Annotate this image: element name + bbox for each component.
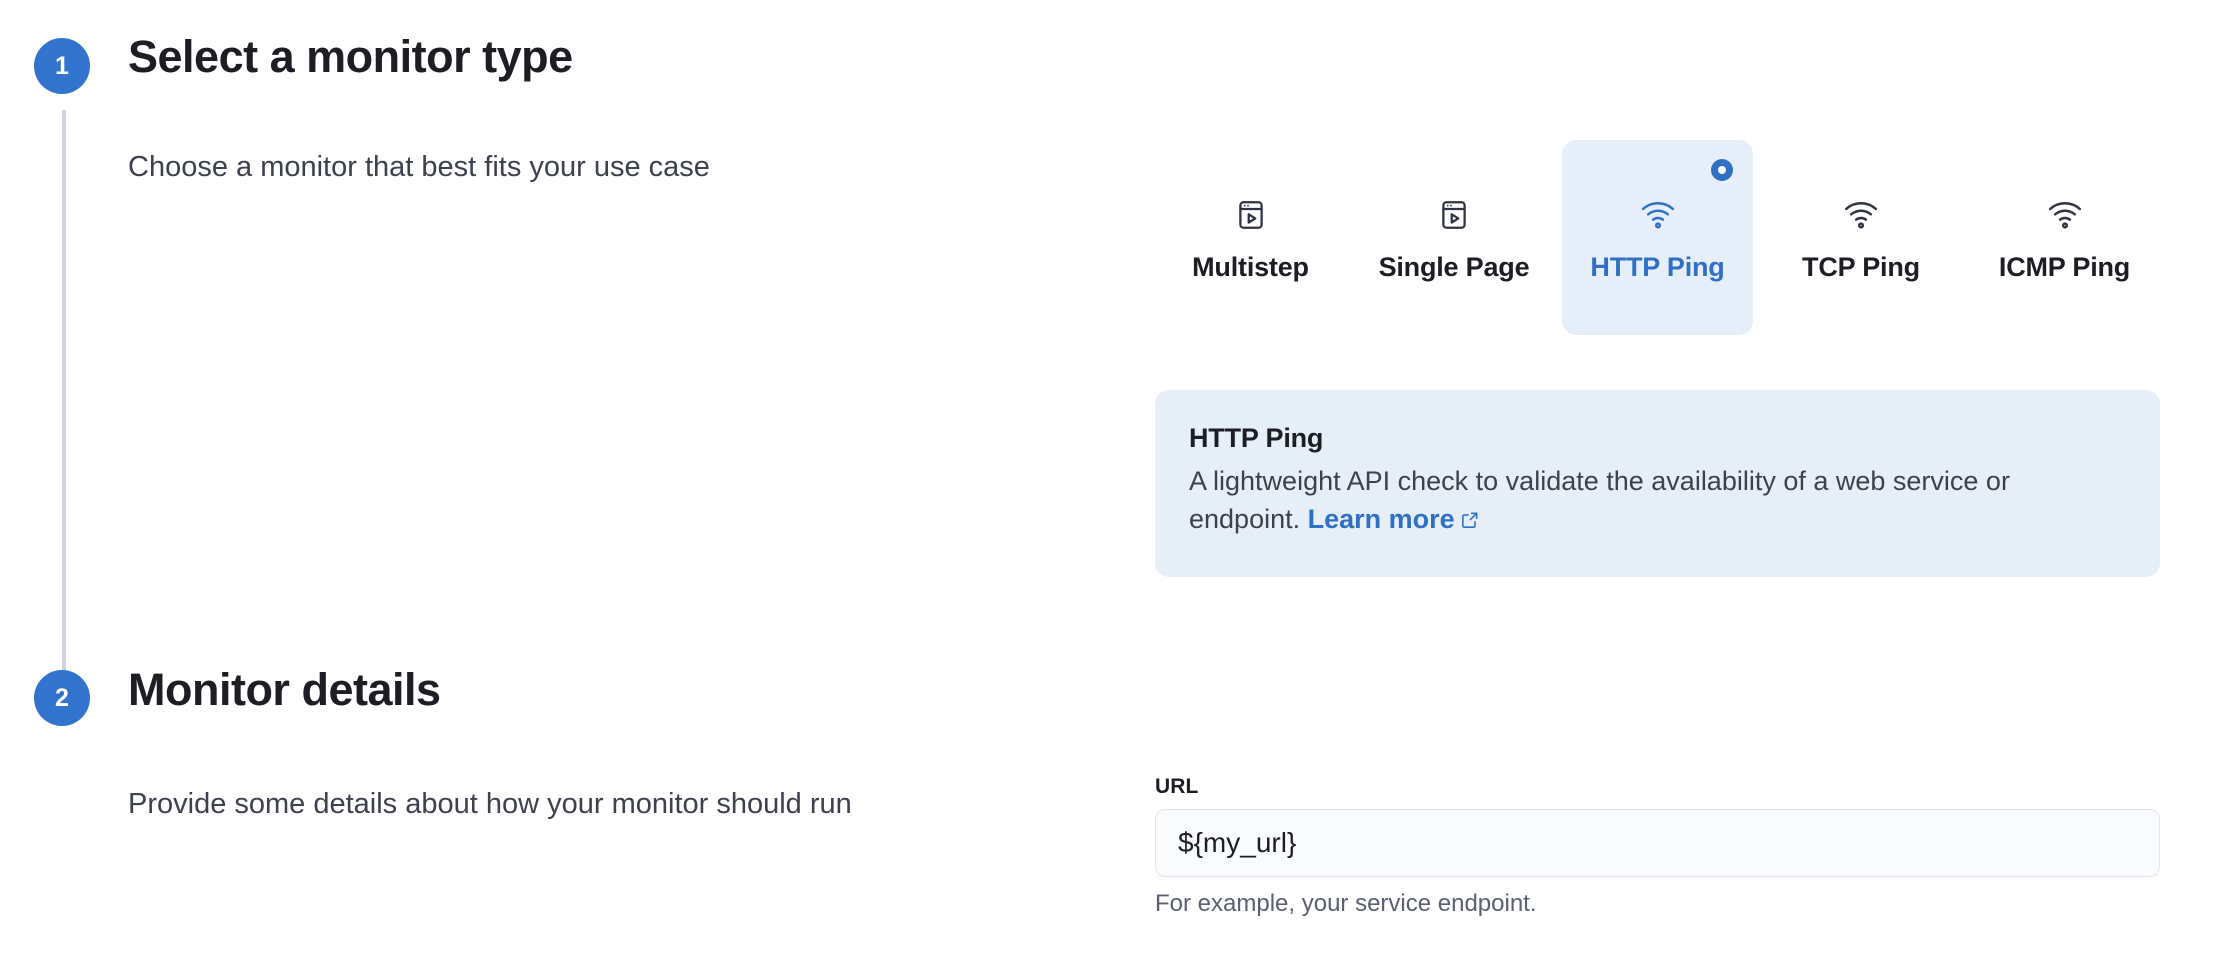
url-input[interactable]: [1155, 809, 2160, 877]
section-description-monitor-details: Provide some details about how your moni…: [128, 785, 852, 824]
monitor-type-label: Single Page: [1379, 252, 1530, 283]
wizard-connector-line: [62, 110, 66, 690]
learn-more-link[interactable]: Learn more: [1308, 504, 1455, 534]
url-field-label: URL: [1155, 775, 2160, 799]
monitor-type-option-multistep[interactable]: Multistep: [1155, 140, 1346, 335]
monitor-type-label: Multistep: [1192, 252, 1309, 283]
info-card-body: A lightweight API check to validate the …: [1189, 462, 2126, 541]
monitor-type-option-tcp-ping[interactable]: TCP Ping: [1766, 140, 1957, 335]
wifi-ping-icon: [1842, 194, 1880, 236]
monitor-type-label: HTTP Ping: [1590, 252, 1724, 283]
wifi-ping-icon: [1639, 194, 1677, 236]
url-field-help-text: For example, your service endpoint.: [1155, 890, 2160, 918]
wifi-ping-icon: [2046, 194, 2084, 236]
radio-selected-icon[interactable]: [1711, 159, 1733, 181]
section-title-monitor-details: Monitor details: [128, 665, 441, 715]
monitor-type-label: ICMP Ping: [1999, 252, 2130, 283]
browser-play-icon: [1234, 194, 1268, 236]
section-title-select-monitor-type: Select a monitor type: [128, 32, 573, 82]
info-card-title: HTTP Ping: [1189, 423, 2126, 454]
external-link-icon[interactable]: [1460, 502, 1480, 540]
wizard-rail: 1 2: [34, 0, 94, 958]
step-badge-1: 1: [34, 38, 90, 94]
monitor-type-option-http-ping[interactable]: HTTP Ping: [1562, 140, 1753, 335]
browser-play-icon: [1437, 194, 1471, 236]
monitor-type-option-single-page[interactable]: Single Page: [1359, 140, 1550, 335]
url-field-group: URL For example, your service endpoint.: [1155, 775, 2160, 918]
step-badge-2: 2: [34, 670, 90, 726]
section-description-select-monitor-type: Choose a monitor that best fits your use…: [128, 148, 710, 187]
monitor-type-picker: Multistep Single Page: [1155, 140, 2160, 335]
monitor-type-option-icmp-ping[interactable]: ICMP Ping: [1969, 140, 2160, 335]
monitor-type-info-card: HTTP Ping A lightweight API check to val…: [1155, 390, 2160, 577]
monitor-type-label: TCP Ping: [1802, 252, 1920, 283]
